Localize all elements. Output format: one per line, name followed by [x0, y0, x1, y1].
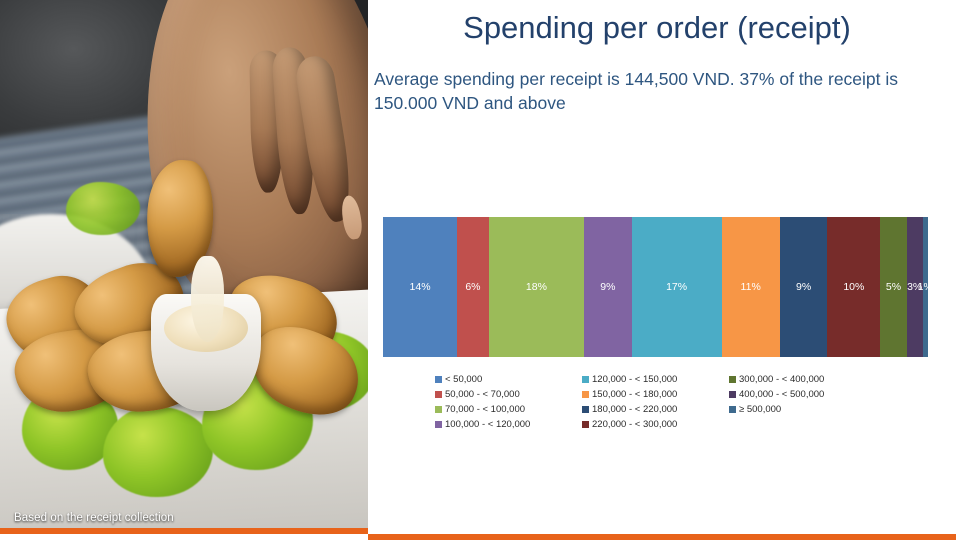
legend-swatch-icon — [729, 376, 736, 383]
legend-label: 400,000 - < 500,000 — [739, 389, 824, 400]
photo-scene — [0, 0, 368, 534]
bar-segment-label: 18% — [526, 281, 547, 293]
legend-swatch-icon — [582, 391, 589, 398]
bar-segment[interactable]: 5% — [880, 217, 906, 357]
bar-segment-label: 10% — [843, 281, 864, 293]
bar-segment[interactable]: 9% — [780, 217, 828, 357]
legend-swatch-icon — [435, 406, 442, 413]
legend-item[interactable]: 120,000 - < 150,000 — [582, 372, 725, 387]
legend-label: 100,000 - < 120,000 — [445, 419, 530, 430]
bar-segment[interactable]: 9% — [584, 217, 632, 357]
accent-rule-right — [368, 534, 956, 540]
photo-lettuce — [66, 182, 140, 235]
bar-segment-label: 6% — [465, 281, 480, 293]
legend-swatch-icon — [582, 376, 589, 383]
photo-lettuce — [103, 406, 213, 497]
legend-item[interactable]: < 50,000 — [435, 372, 578, 387]
slide: Based on the receipt collection Spending… — [0, 0, 956, 540]
photo-thumbnail-nail — [339, 195, 364, 241]
legend-label: ≥ 500,000 — [739, 404, 781, 415]
content-panel: Spending per order (receipt) Average spe… — [368, 0, 956, 540]
bar-segment[interactable]: 6% — [457, 217, 489, 357]
bar-segment[interactable]: 1% — [923, 217, 928, 357]
legend-swatch-icon — [435, 421, 442, 428]
legend-item[interactable]: 400,000 - < 500,000 — [729, 387, 872, 402]
accent-rule-left — [0, 528, 368, 534]
legend-label: 150,000 - < 180,000 — [592, 389, 677, 400]
bar-segment[interactable]: 18% — [489, 217, 584, 357]
legend-swatch-icon — [582, 421, 589, 428]
bar-segment-label: 14% — [410, 281, 431, 293]
stacked-bar: 14%6%18%9%17%11%9%10%5%3%1% — [383, 217, 928, 357]
fried-chicken-platter-photo: Based on the receipt collection — [0, 0, 368, 534]
legend-label: 220,000 - < 300,000 — [592, 419, 677, 430]
bar-segment-label: 9% — [796, 281, 811, 293]
legend-label: 120,000 - < 150,000 — [592, 374, 677, 385]
bar-segment[interactable]: 14% — [383, 217, 457, 357]
legend-swatch-icon — [729, 391, 736, 398]
legend-swatch-icon — [435, 391, 442, 398]
bar-segment-label: 3% — [907, 281, 922, 293]
slide-subtitle: Average spending per receipt is 144,500 … — [374, 67, 938, 115]
legend-swatch-icon — [435, 376, 442, 383]
legend-swatch-icon — [582, 406, 589, 413]
legend-item[interactable]: 180,000 - < 220,000 — [582, 402, 725, 417]
bar-segment-label: 17% — [666, 281, 687, 293]
legend-label: 50,000 - < 70,000 — [445, 389, 520, 400]
legend-spacer — [729, 417, 872, 432]
legend-item[interactable]: 300,000 - < 400,000 — [729, 372, 872, 387]
legend-item[interactable]: 220,000 - < 300,000 — [582, 417, 725, 432]
legend-item[interactable]: 70,000 - < 100,000 — [435, 402, 578, 417]
legend-item[interactable]: ≥ 500,000 — [729, 402, 872, 417]
legend-label: 300,000 - < 400,000 — [739, 374, 824, 385]
chart-plot-area: 14%6%18%9%17%11%9%10%5%3%1% — [383, 202, 928, 354]
bar-segment[interactable]: 10% — [827, 217, 880, 357]
legend-item[interactable]: 100,000 - < 120,000 — [435, 417, 578, 432]
legend-label: < 50,000 — [445, 374, 482, 385]
bar-segment[interactable]: 3% — [907, 217, 923, 357]
photo-caption: Based on the receipt collection — [14, 512, 174, 524]
legend-item[interactable]: 50,000 - < 70,000 — [435, 387, 578, 402]
bar-segment-label: 11% — [741, 281, 761, 293]
legend-label: 70,000 - < 100,000 — [445, 404, 525, 415]
legend-item[interactable]: 150,000 - < 180,000 — [582, 387, 725, 402]
bar-segment-label: 5% — [886, 281, 901, 293]
spending-per-receipt-chart: 14%6%18%9%17%11%9%10%5%3%1% < 50,000120,… — [373, 190, 938, 440]
bar-segment-label: 9% — [600, 281, 615, 293]
chart-legend: < 50,000120,000 - < 150,000300,000 - < 4… — [435, 372, 875, 432]
page-title: Spending per order (receipt) — [368, 10, 946, 47]
legend-swatch-icon — [729, 406, 736, 413]
bar-segment[interactable]: 11% — [722, 217, 780, 357]
bar-segment[interactable]: 17% — [632, 217, 722, 357]
legend-label: 180,000 - < 220,000 — [592, 404, 677, 415]
